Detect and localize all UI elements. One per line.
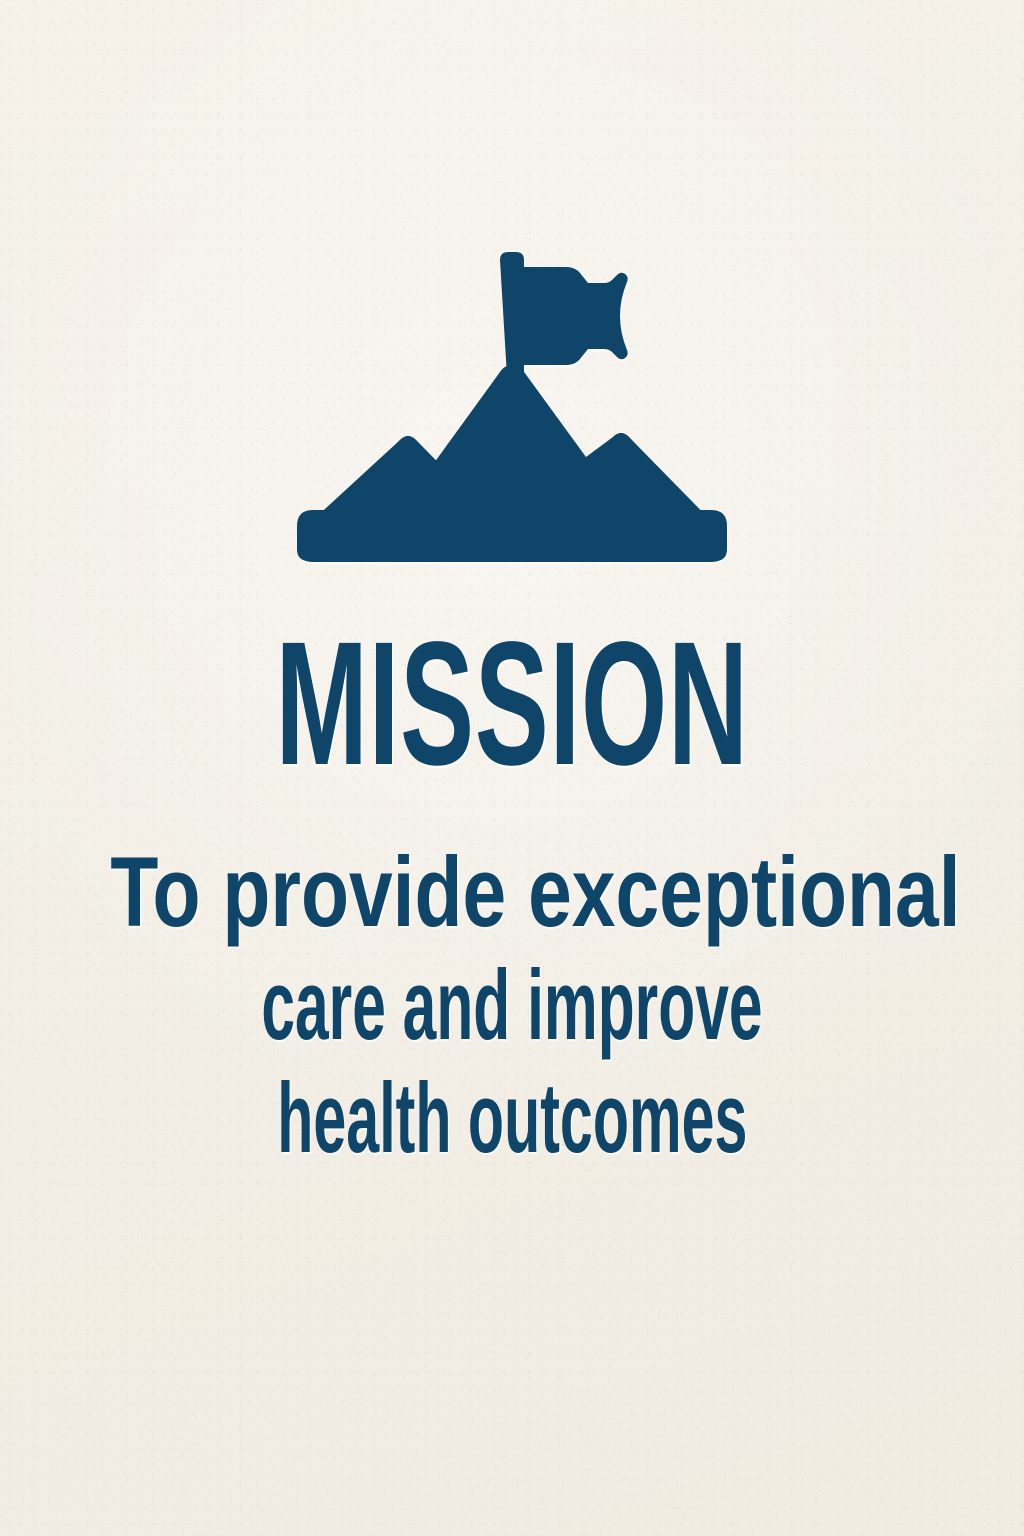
mountain-with-flag-icon bbox=[297, 252, 727, 562]
poster-content: MISSION To provide exceptional care and … bbox=[0, 0, 1024, 1174]
statement-line-3: health outcomes bbox=[277, 1061, 747, 1174]
title-block: MISSION bbox=[0, 636, 1024, 773]
mission-statement: To provide exceptional care and improve … bbox=[0, 835, 1024, 1174]
mountain-silhouette bbox=[297, 365, 727, 561]
statement-line-1: To provide exceptional bbox=[110, 835, 960, 948]
mission-poster: MISSION To provide exceptional care and … bbox=[0, 0, 1024, 1536]
statement-line-2: care and improve bbox=[261, 948, 762, 1061]
page-title: MISSION bbox=[275, 636, 748, 773]
mountain-with-flag-glyph bbox=[297, 252, 727, 562]
